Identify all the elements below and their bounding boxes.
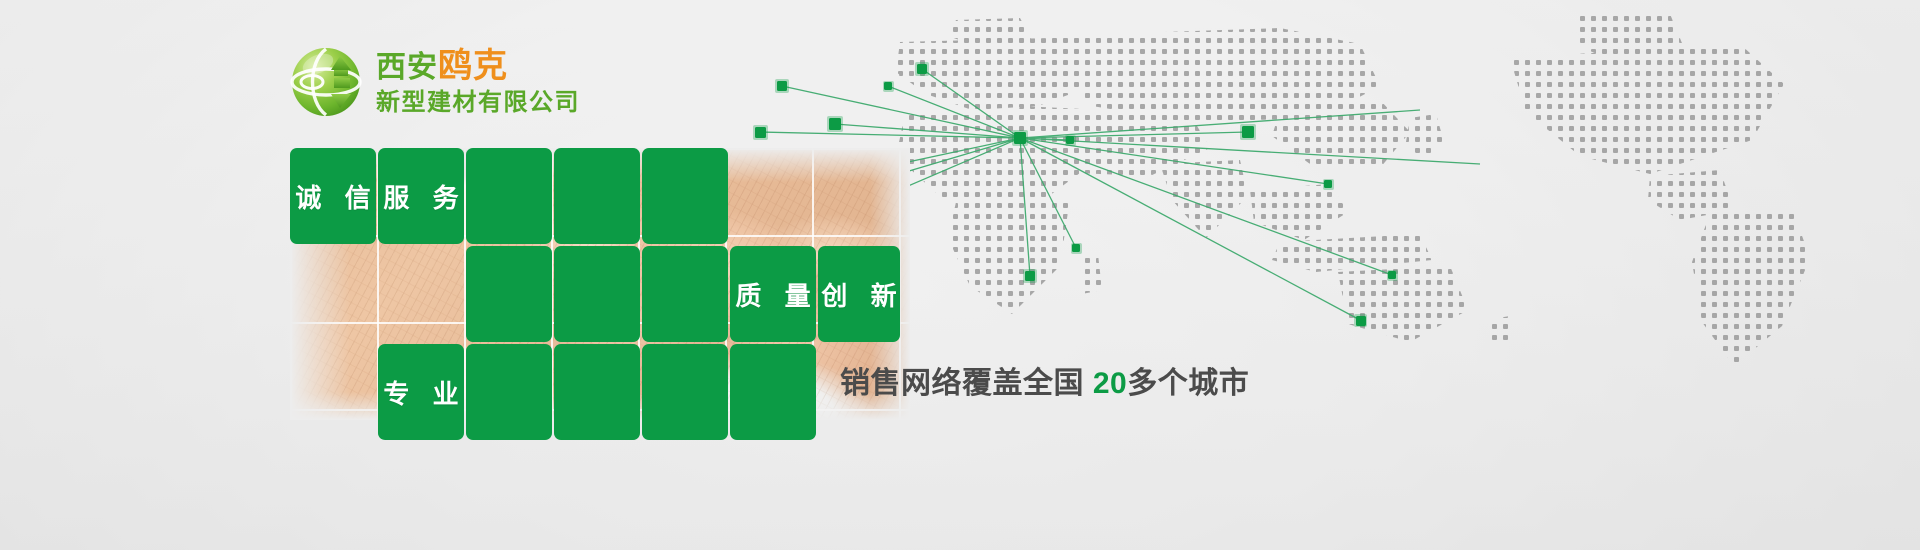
tile-blank-6[interactable]	[642, 246, 728, 342]
banner-stage: 诚 信服 务质 量创 新专 业	[0, 0, 1920, 550]
logo-text: 西安鸥克 新型建材有限公司	[376, 49, 580, 115]
tile-blank-9[interactable]	[642, 344, 728, 440]
tile-fuwu[interactable]: 服 务	[378, 148, 464, 244]
logo-subtitle: 新型建材有限公司	[376, 91, 580, 115]
tile-blank-3[interactable]	[642, 148, 728, 244]
tile-label: 专 业	[375, 374, 466, 411]
tile-blank-8[interactable]	[554, 344, 640, 440]
sales-network-tagline: 销售网络覆盖全国 20多个城市	[840, 358, 1249, 402]
tile-blank-5[interactable]	[554, 246, 640, 342]
tile-chengxin[interactable]: 诚 信	[290, 148, 376, 244]
logo-company-name: 西安鸥克	[376, 49, 580, 83]
globe-leaf-icon	[290, 46, 362, 118]
logo-brand: 鸥克	[438, 47, 508, 85]
tile-blank-2[interactable]	[554, 148, 640, 244]
tile-blank-10[interactable]	[730, 344, 816, 440]
tile-label: 诚 信	[287, 178, 378, 215]
tile-label: 服 务	[375, 178, 466, 215]
logo-city: 西安	[376, 51, 438, 84]
tile-zhiliang[interactable]: 质 量	[730, 246, 816, 342]
tile-blank-1[interactable]	[466, 148, 552, 244]
tile-chuangxin[interactable]: 创 新	[818, 246, 900, 342]
tile-blank-7[interactable]	[466, 344, 552, 440]
tile-label: 质 量	[727, 276, 818, 313]
tile-zhuanye[interactable]: 专 业	[378, 344, 464, 440]
company-logo[interactable]: 西安鸥克 新型建材有限公司	[290, 46, 580, 118]
tagline-suffix: 多个城市	[1127, 367, 1249, 400]
tagline-number: 20	[1093, 367, 1127, 400]
tile-label: 创 新	[813, 276, 904, 313]
tagline-prefix: 销售网络覆盖全国	[840, 367, 1084, 400]
tile-blank-4[interactable]	[466, 246, 552, 342]
